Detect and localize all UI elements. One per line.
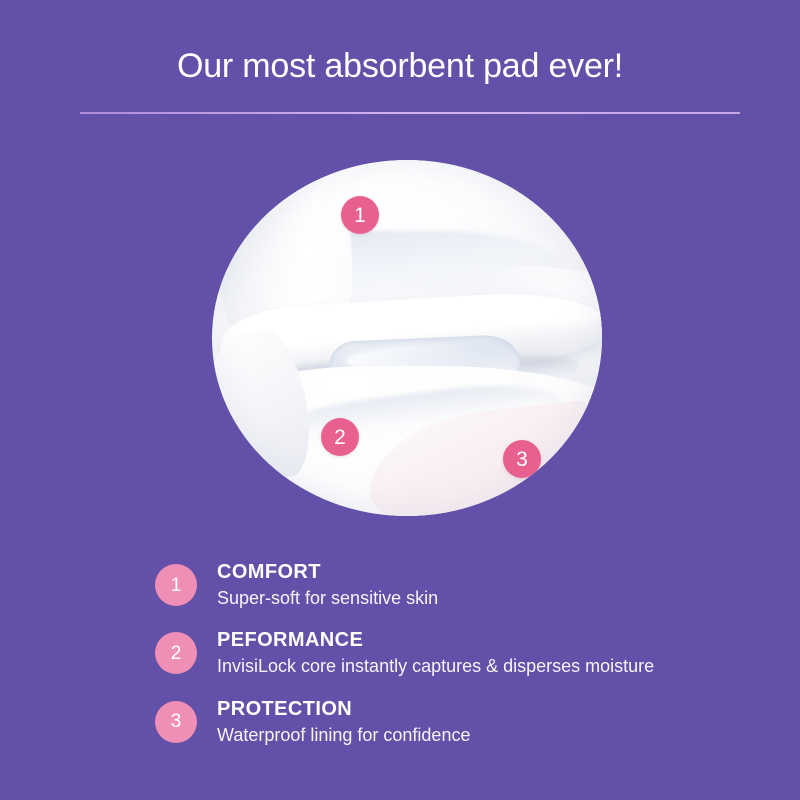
legend-title-3: PROTECTION (217, 697, 755, 722)
legend-description-3: Waterproof lining for confidence (217, 724, 755, 747)
legend-item-protection: 3 PROTECTION Waterproof lining for confi… (155, 697, 755, 747)
legend-badge-1: 1 (155, 564, 197, 606)
page-title: Our most absorbent pad ever! (0, 47, 800, 86)
legend-badge-2: 2 (155, 632, 197, 674)
legend-badge-3: 3 (155, 701, 197, 743)
product-photo-artwork (212, 160, 602, 516)
photo-callout-badge-2: 2 (321, 418, 359, 456)
photo-callout-badge-1: 1 (341, 196, 379, 234)
legend-description-2: InvisiLock core instantly captures & dis… (217, 655, 755, 678)
header-divider (80, 112, 740, 114)
feature-legend: 1 COMFORT Super-soft for sensitive skin … (155, 560, 755, 747)
legend-title-2: PEFORMANCE (217, 628, 755, 653)
legend-title-1: COMFORT (217, 560, 755, 585)
product-photo: 1 2 3 (212, 160, 602, 516)
legend-item-performance: 2 PEFORMANCE InvisiLock core instantly c… (155, 628, 755, 678)
legend-item-comfort: 1 COMFORT Super-soft for sensitive skin (155, 560, 755, 610)
legend-description-1: Super-soft for sensitive skin (217, 587, 755, 610)
photo-callout-badge-3: 3 (503, 440, 541, 478)
